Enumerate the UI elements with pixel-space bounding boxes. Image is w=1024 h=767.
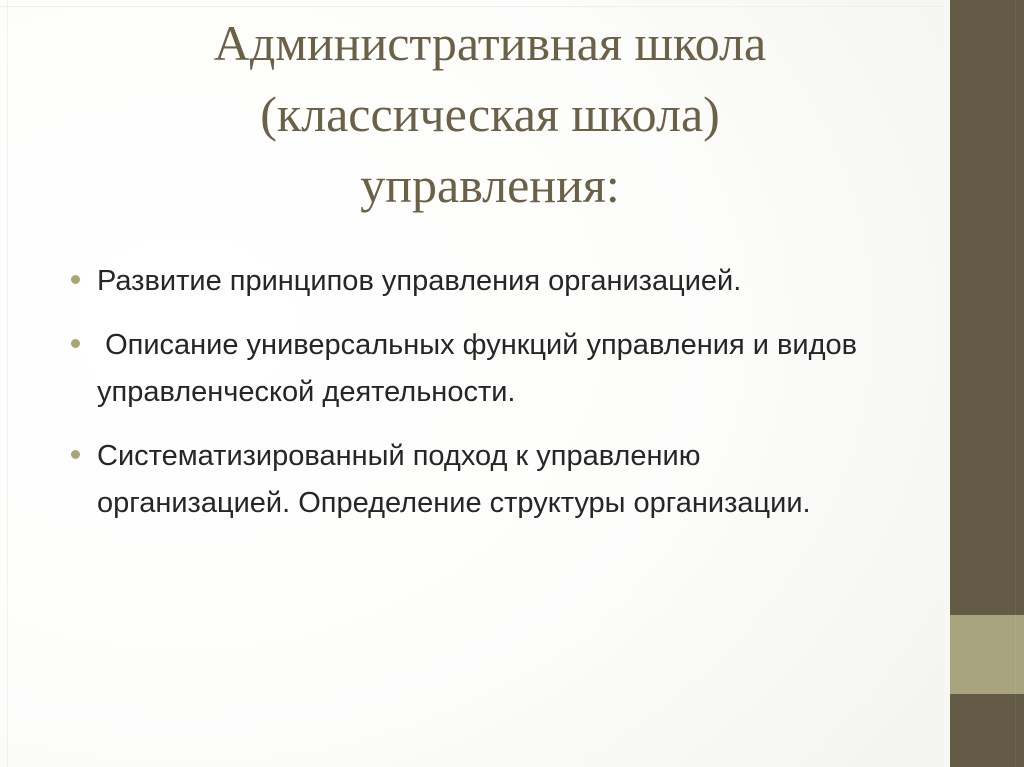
bullet-dot-icon [71, 450, 80, 459]
bullet-dot-icon [71, 275, 80, 284]
list-item: Развитие принципов управления организаци… [62, 258, 874, 305]
slide-canvas: Административная школа (классическая шко… [0, 0, 1024, 767]
list-item-text: Развитие принципов управления организаци… [97, 258, 874, 305]
slide-title-line-3: управления: [60, 150, 920, 221]
list-item-text: Систематизированный подход к управлению … [97, 433, 874, 527]
list-item-text: Описание универсальных функций управлени… [97, 322, 874, 416]
list-item: Описание универсальных функций управлени… [62, 322, 874, 416]
list-item: Систематизированный подход к управлению … [62, 433, 874, 527]
slide-title-line-2: (классическая школа) [60, 79, 920, 150]
page-edge-line-top [0, 6, 950, 7]
page-edge-line-left [7, 0, 8, 767]
slide-title-line-1: Административная школа [60, 8, 920, 79]
sidebar-accent-band [950, 615, 1024, 694]
slide-bullet-list: Развитие принципов управления организаци… [62, 258, 874, 527]
bullet-dot-icon [71, 339, 80, 348]
sidebar-seam-line [1015, 0, 1016, 767]
slide-title: Административная школа (классическая шко… [60, 8, 920, 221]
